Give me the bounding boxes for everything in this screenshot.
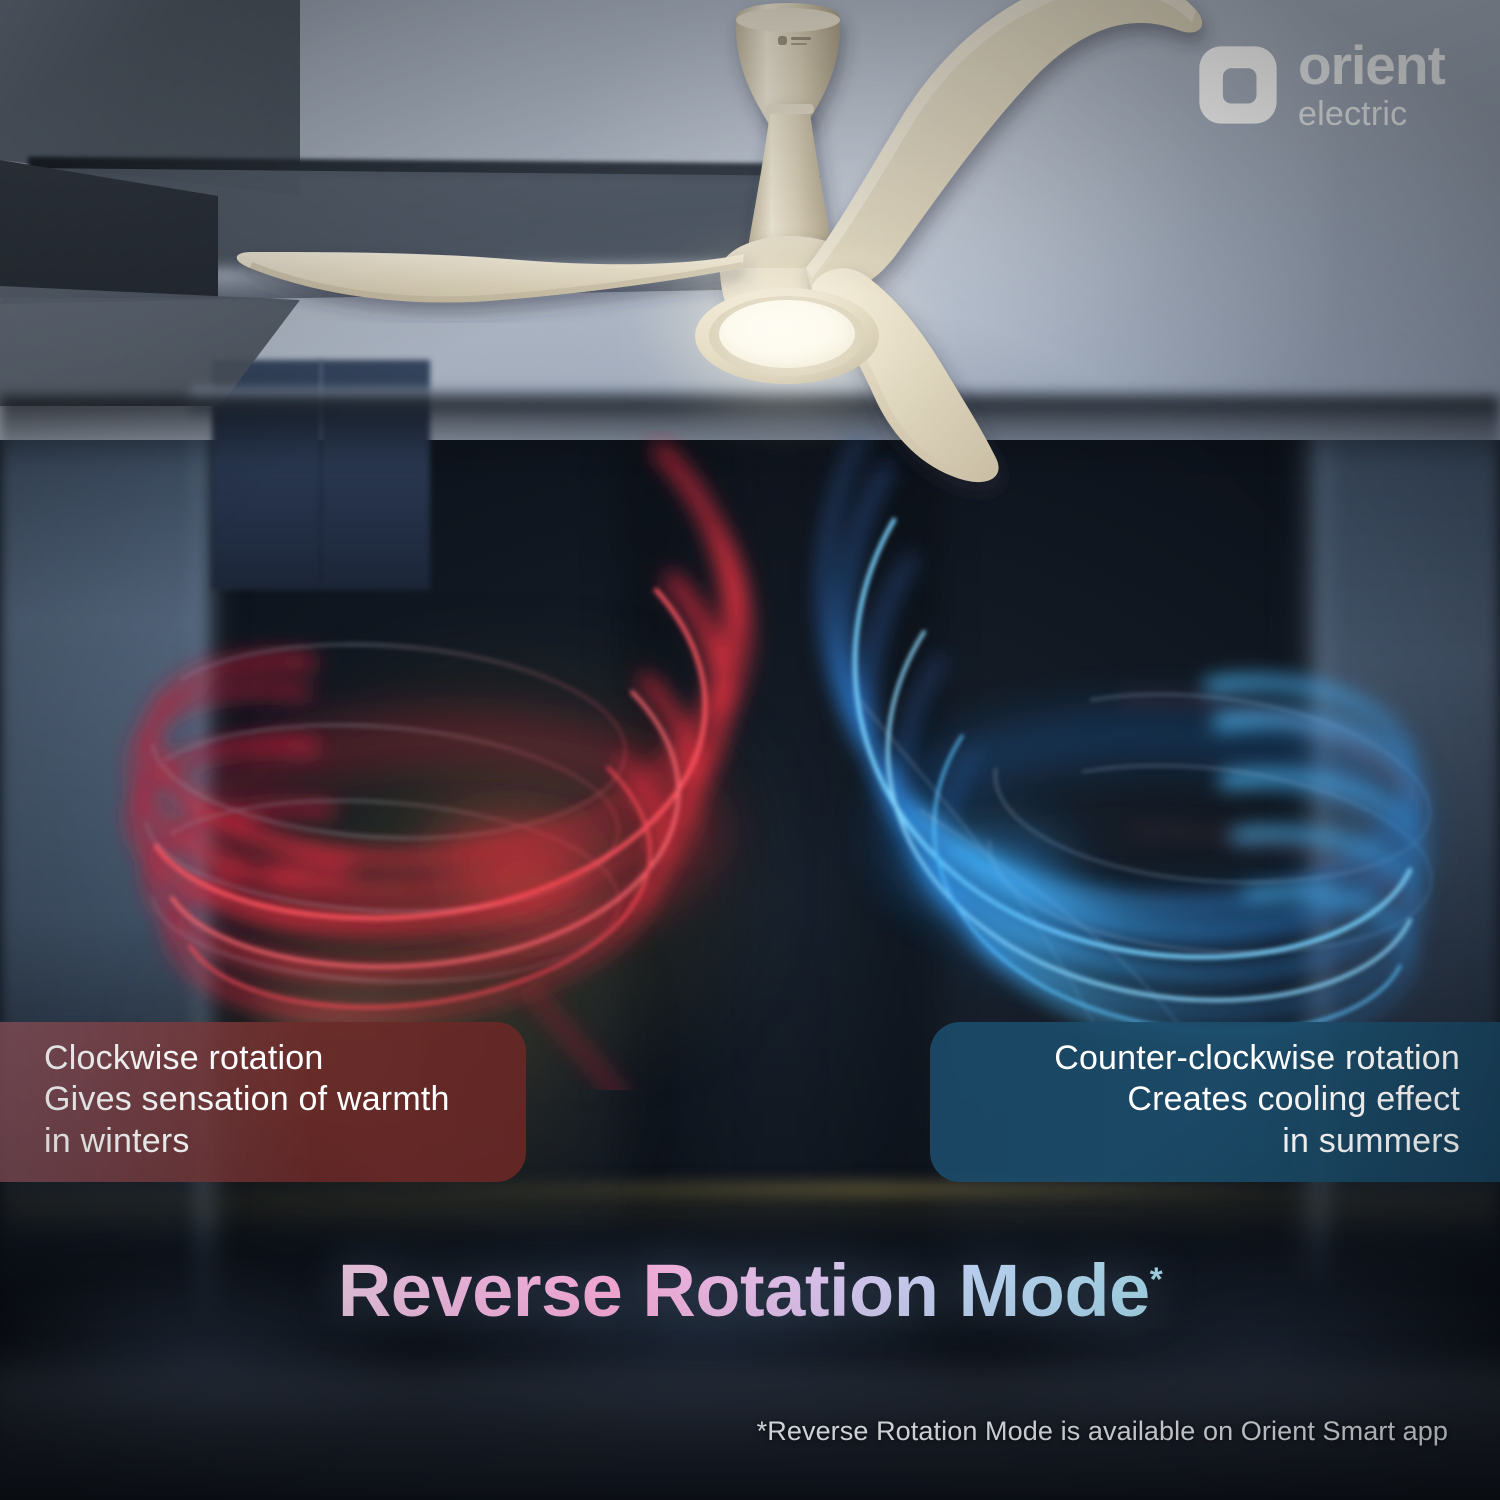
callout-panel-counter-clockwise: Counter-clockwise rotation Creates cooli… (930, 1022, 1500, 1182)
counter-clockwise-title: Counter-clockwise rotation (930, 1038, 1460, 1079)
clockwise-line-3: in winters (44, 1121, 526, 1162)
fan-led-light (637, 238, 937, 430)
counter-clockwise-line-3: in summers (930, 1121, 1460, 1162)
logo-wordmark-primary: orient (1298, 38, 1445, 93)
page-title: Reverse Rotation Mode* (0, 1248, 1500, 1333)
orient-logo-icon (1196, 43, 1280, 127)
fan-blade-upper-right (806, 0, 1202, 294)
clockwise-line-2: Gives sensation of warmth (44, 1079, 526, 1120)
headline-text: Reverse Rotation Mode (338, 1249, 1150, 1332)
footnote-text: *Reverse Rotation Mode is available on O… (757, 1416, 1448, 1447)
clockwise-title: Clockwise rotation (44, 1038, 526, 1079)
callout-panel-clockwise: Clockwise rotation Gives sensation of wa… (0, 1022, 526, 1182)
wall-shelf-band (0, 1190, 1500, 1236)
brand-logo[interactable]: orient electric (1196, 38, 1445, 131)
logo-wordmark-secondary: electric (1298, 97, 1445, 131)
counter-clockwise-line-2: Creates cooling effect (930, 1079, 1460, 1120)
headline-asterisk: * (1150, 1261, 1162, 1298)
wall-shelf-highlight (420, 1182, 1320, 1196)
product-feature-banner: orient electric Clockwise rotation Gives… (0, 0, 1500, 1500)
